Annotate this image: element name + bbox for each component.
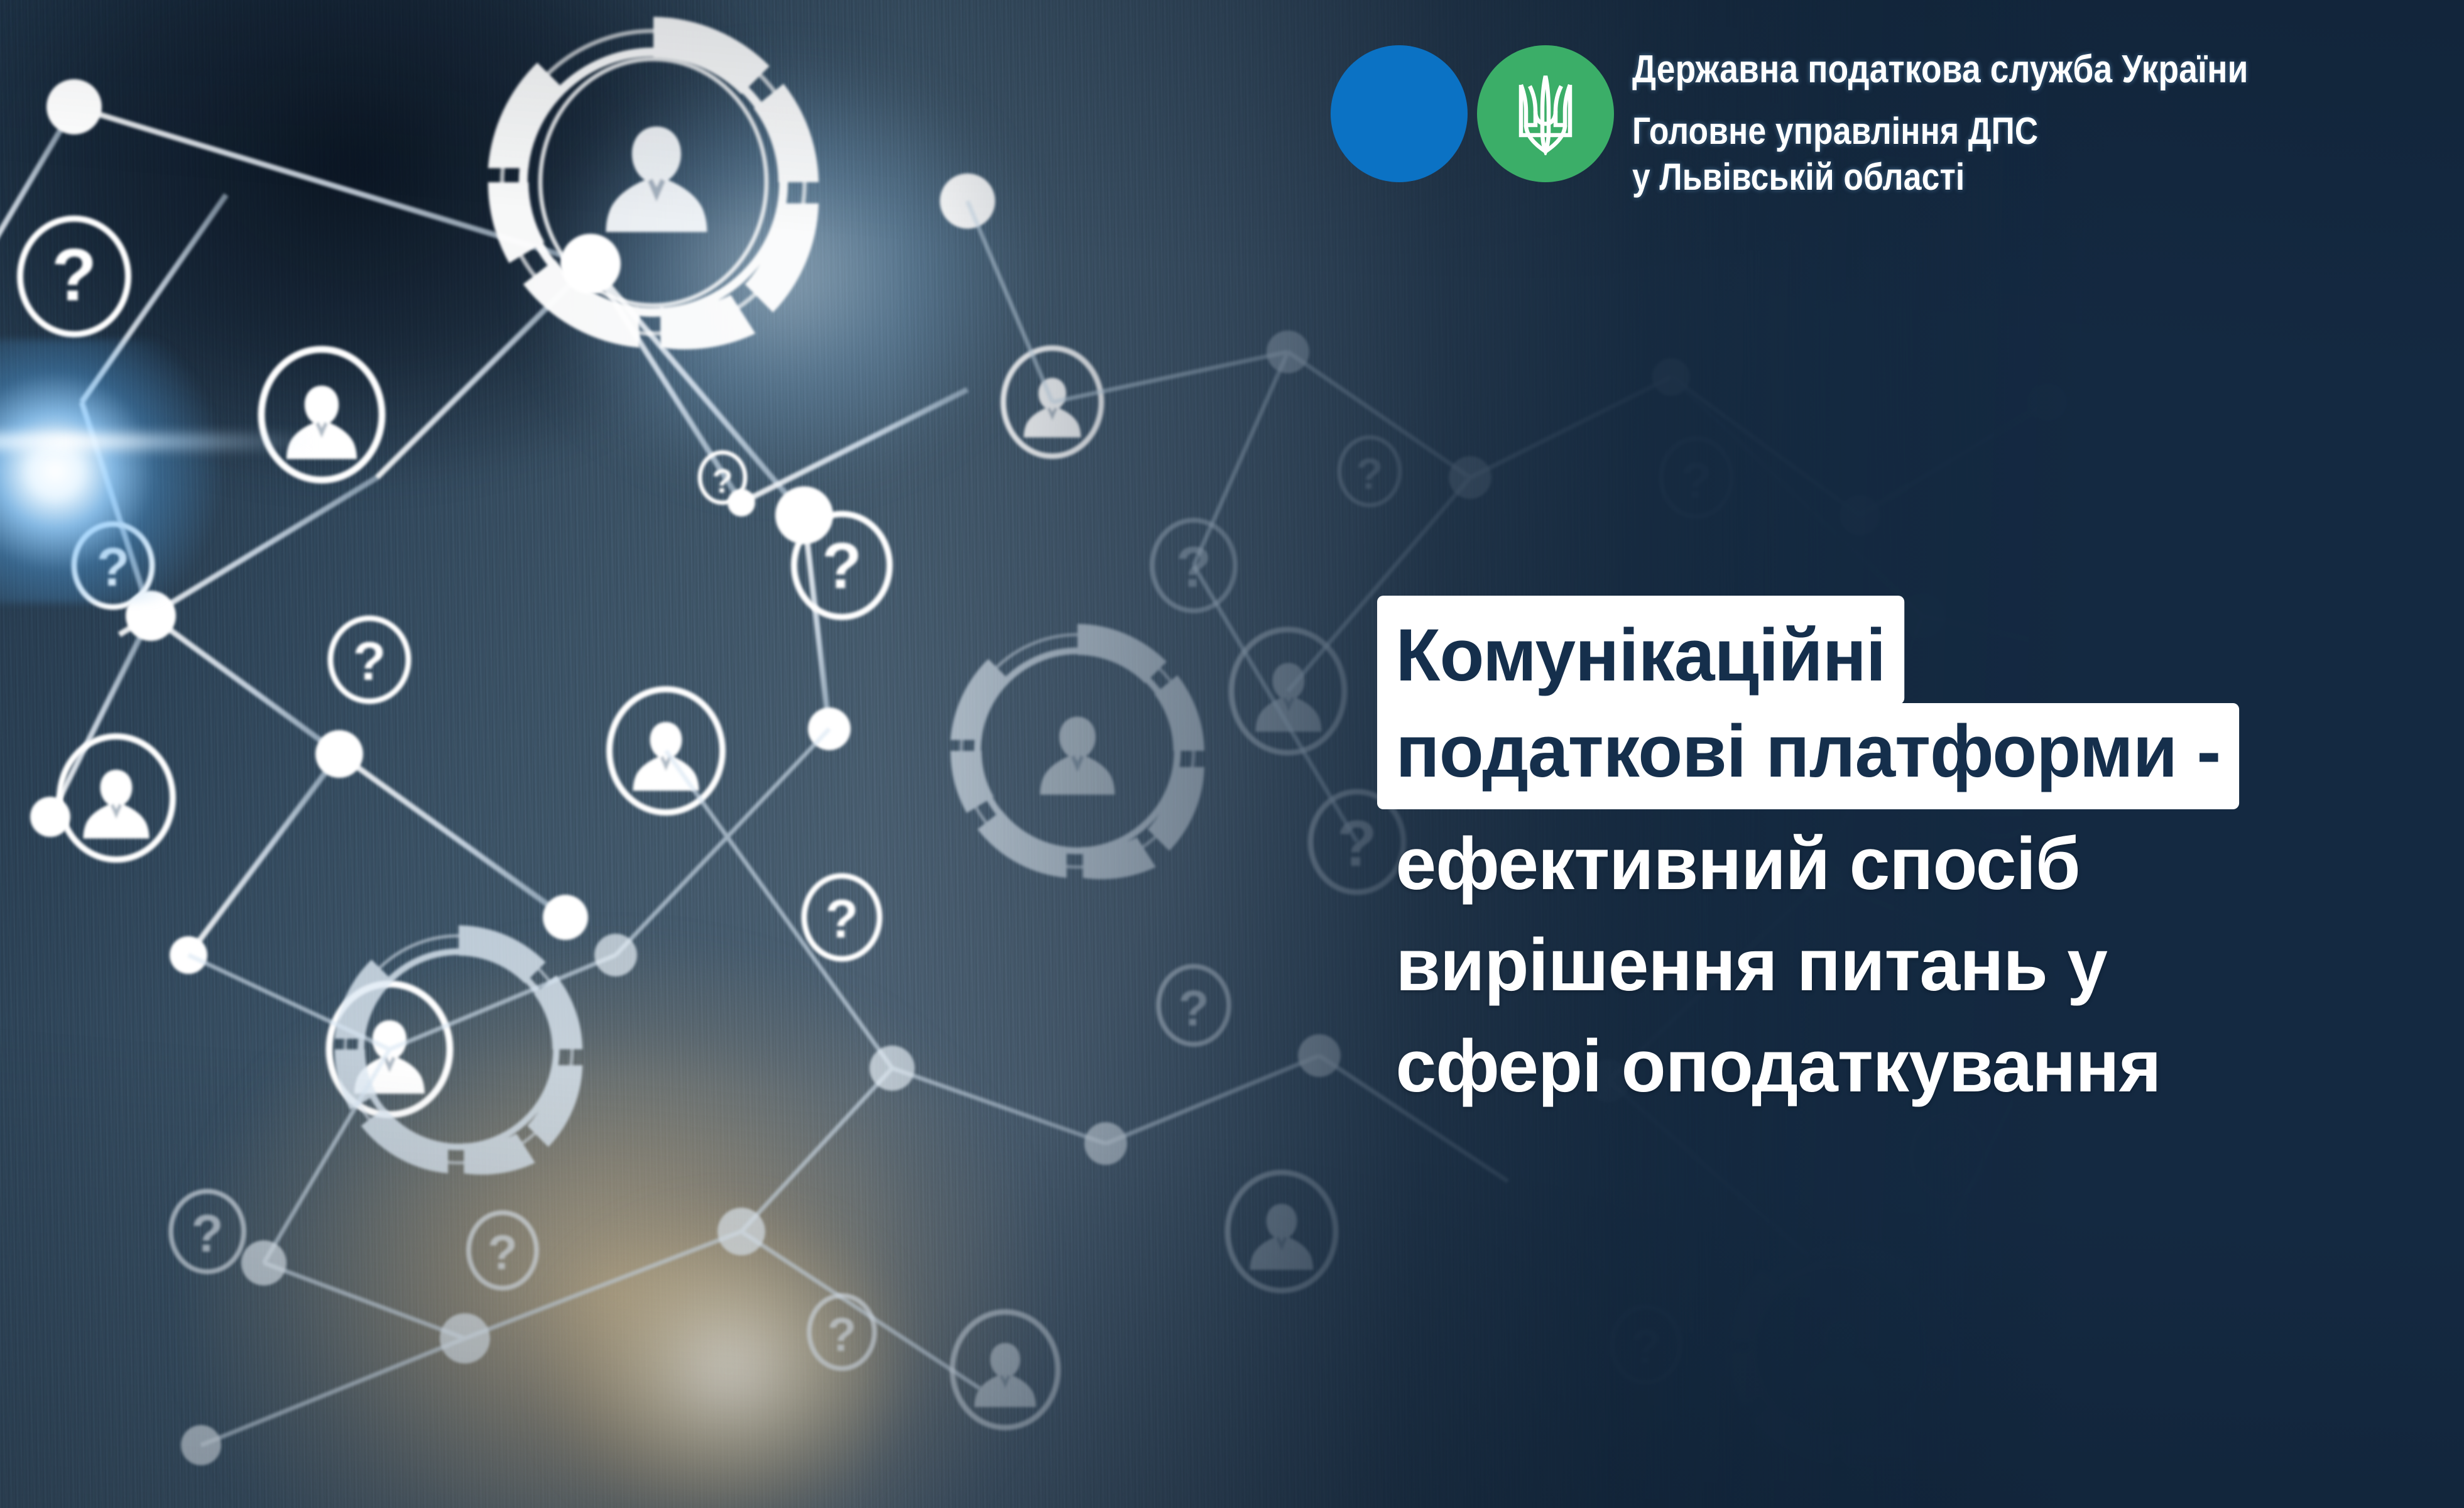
svg-text:?: ? bbox=[353, 631, 386, 692]
title-line-2: податкові платформи - bbox=[1377, 703, 2239, 809]
svg-text:?: ? bbox=[1631, 1319, 1661, 1374]
svg-text:?: ? bbox=[97, 537, 130, 598]
hud-ring-person-icon bbox=[488, 17, 819, 349]
banner-canvas: ? ? ? ? ? bbox=[0, 0, 2464, 1508]
svg-text:?: ? bbox=[191, 1204, 223, 1263]
person-node-icon bbox=[60, 348, 1101, 1115]
title-line-5: сфері оподаткування bbox=[1377, 1012, 2429, 1113]
hud-ring-person-icon bbox=[335, 926, 583, 1175]
title-line-4: вирішення питань у bbox=[1377, 910, 2429, 1012]
dps-blue-circle bbox=[1331, 45, 1468, 182]
svg-text:?: ? bbox=[488, 1225, 518, 1280]
title-line-3: ефективний спосіб bbox=[1377, 809, 2429, 910]
svg-text:?: ? bbox=[822, 530, 862, 603]
svg-text:?: ? bbox=[712, 462, 733, 500]
hud-ring-person-icon bbox=[951, 624, 1204, 879]
ukraine-trident-icon bbox=[1510, 72, 1581, 155]
svg-text:?: ? bbox=[1681, 452, 1712, 508]
page-title: Комунікаційні податкові платформи - ефек… bbox=[1377, 596, 2445, 1113]
org-line-1: Державна податкова служба України bbox=[1632, 49, 2249, 90]
plain-dot-node bbox=[46, 79, 102, 134]
svg-text:?: ? bbox=[2223, 532, 2250, 580]
svg-text:?: ? bbox=[1179, 980, 1209, 1036]
organisation-name: Державна податкова служба України Головн… bbox=[1632, 45, 2348, 200]
organisation-header: Державна податкова служба України Головн… bbox=[1318, 45, 2348, 200]
dps-green-circle bbox=[1477, 45, 1614, 182]
svg-text:?: ? bbox=[52, 234, 97, 317]
svg-text:?: ? bbox=[1356, 449, 1383, 498]
svg-text:?: ? bbox=[1176, 535, 1211, 599]
plain-dot-node bbox=[560, 234, 621, 294]
hud-ring-person-icon bbox=[1728, 1238, 1953, 1464]
dps-logo bbox=[1318, 45, 1632, 182]
plain-dot-node bbox=[543, 895, 588, 940]
org-line-3: у Львівській області bbox=[1632, 154, 2249, 200]
person-node-icon bbox=[952, 630, 1344, 1428]
svg-text:?: ? bbox=[827, 1308, 856, 1362]
svg-text:?: ? bbox=[826, 889, 859, 949]
question-mark-node-icon: ? ? ? ? bbox=[1152, 437, 2265, 611]
svg-text:?: ? bbox=[1931, 1128, 1963, 1188]
org-line-2: Головне управління ДПС bbox=[1632, 108, 2249, 154]
plain-dot-node bbox=[315, 730, 363, 778]
title-line-1: Комунікаційні bbox=[1377, 596, 1904, 704]
